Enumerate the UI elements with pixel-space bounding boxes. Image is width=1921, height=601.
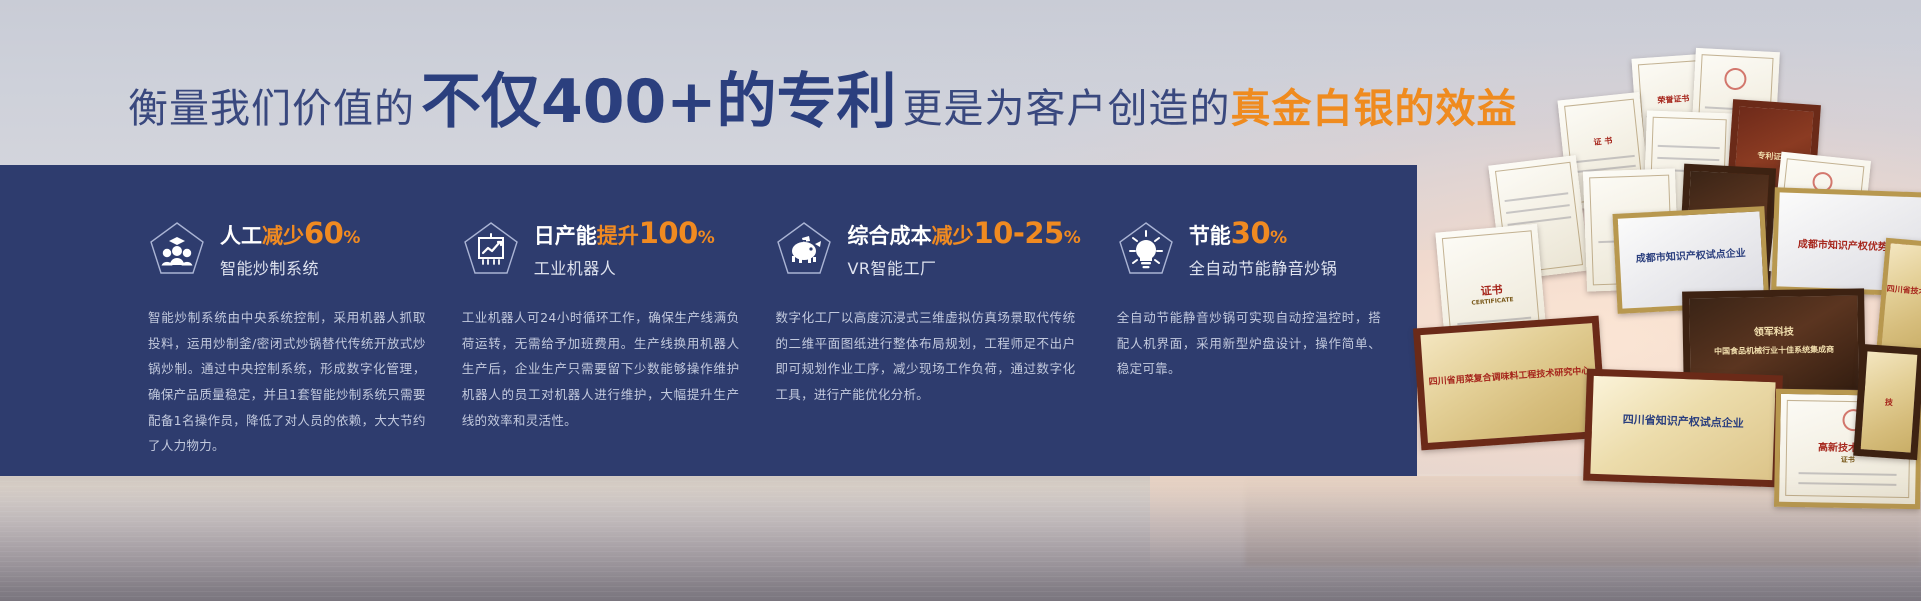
feature-titles: 日产能提升100% 工业机器人 <box>534 219 715 279</box>
certificate-stack: 荣誉证书 证 书 专利证书 知识产权 优 <box>1245 50 1921 520</box>
feature-titles: 人工减少60% 智能炒制系统 <box>220 219 360 279</box>
people-group-icon <box>148 220 206 278</box>
features-row: 人工减少60% 智能炒制系统 智能炒制系统由中央系统控制，采用机器人抓取投料，运… <box>148 215 1417 476</box>
feature-column-labor: 人工减少60% 智能炒制系统 智能炒制系统由中央系统控制，采用机器人抓取投料，运… <box>148 215 462 476</box>
feature-subtitle: VR智能工厂 <box>847 255 1080 279</box>
headline-middle: 更是为客户创造的 <box>903 76 1231 134</box>
feature-titles: 综合成本减少10-25% VR智能工厂 <box>847 219 1080 279</box>
feature-column-cost: 综合成本减少10-25% VR智能工厂 数字化工厂以高度沉浸式三维虚拟仿真场景取… <box>775 215 1116 476</box>
headline-prefix: 衡量我们价值的 <box>128 76 415 134</box>
feature-title: 人工减少60% <box>220 219 360 248</box>
feature-body: 智能炒制系统由中央系统控制，采用机器人抓取投料，运用炒制釜/密闭式炒锅替代传统开… <box>148 305 426 459</box>
award-plaque: 四川省用菜复合调味料工程技术研究中心 <box>1413 316 1607 451</box>
feature-header: 日产能提升100% 工业机器人 <box>462 215 740 283</box>
feature-title: 日产能提升100% <box>534 219 715 248</box>
feature-title: 综合成本减少10-25% <box>847 219 1080 248</box>
banner-stage: 衡量我们价值的 不仅400+的专利 更是为客户创造的 真金白银的效益 <box>0 0 1921 601</box>
lightbulb-icon <box>1117 220 1175 278</box>
feature-subtitle: 智能炒制系统 <box>220 255 360 279</box>
chart-board-icon <box>462 220 520 278</box>
feature-header: 人工减少60% 智能炒制系统 <box>148 215 426 283</box>
feature-column-capacity: 日产能提升100% 工业机器人 工业机器人可24小时循环工作，确保生产线满负荷运… <box>462 215 776 476</box>
piggy-bank-icon <box>775 220 833 278</box>
award-plaque: 四川省知识产权试点企业 <box>1583 369 1783 488</box>
feature-header: 综合成本减少10-25% VR智能工厂 <box>775 215 1080 283</box>
award-plaque: 技 <box>1853 344 1921 460</box>
features-panel: 人工减少60% 智能炒制系统 智能炒制系统由中央系统控制，采用机器人抓取投料，运… <box>0 165 1417 476</box>
headline-emphasis: 不仅400+的专利 <box>415 72 903 132</box>
feature-body: 数字化工厂以高度沉浸式三维虚拟仿真场景取代传统的二维平面图纸进行整体布局规划，工… <box>775 305 1075 408</box>
feature-body: 工业机器人可24小时循环工作，确保生产线满负荷运转，无需给予加班费用。生产线换用… <box>462 305 740 433</box>
feature-subtitle: 工业机器人 <box>534 255 715 279</box>
